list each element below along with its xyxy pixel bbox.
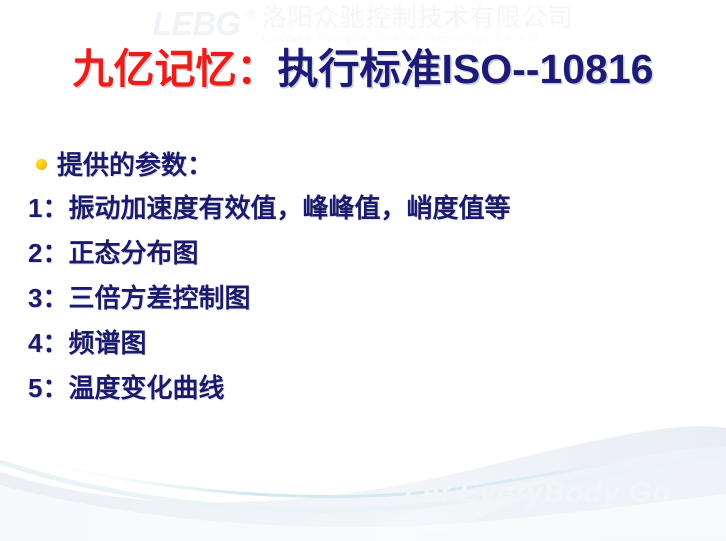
list-item-number: 2： <box>28 240 68 266</box>
parameters-list: 提供的参数： 1： 振动加速度有效值，峰峰值，峭度值等 2： 正态分布图 3： … <box>28 152 708 420</box>
list-heading-label: 提供的参数： <box>57 152 213 178</box>
list-item: 3： 三倍方差控制图 <box>28 285 708 311</box>
title-red-segment: 九亿记忆： <box>73 46 278 92</box>
list-item: 5： 温度变化曲线 <box>28 375 708 401</box>
list-item-number: 5： <box>28 375 68 401</box>
list-item-label: 振动加速度有效值，峰峰值，峭度值等 <box>68 195 510 221</box>
lebg-logo-text: LEBG <box>152 2 240 40</box>
bottom-tagline-watermark: Let EveryBody Go <box>404 477 671 510</box>
company-name-english: LuoYang ZhongChi Control Technology Co.,… <box>262 34 574 45</box>
slide-canvas: LEBG ® 洛阳众驰控制技术有限公司 LuoYang ZhongChi Con… <box>0 0 726 541</box>
list-item-number: 4： <box>28 330 68 356</box>
list-item: 1： 振动加速度有效值，峰峰值，峭度值等 <box>28 195 708 221</box>
slide-title: 九亿记忆：执行标准ISO--10816 <box>0 46 726 93</box>
list-item-number: 3： <box>28 285 68 311</box>
list-item: 2： 正态分布图 <box>28 240 708 266</box>
list-item-label: 温度变化曲线 <box>68 375 224 401</box>
registered-trademark-icon: ® <box>246 2 256 21</box>
list-item-number: 1： <box>28 195 68 221</box>
list-item-label: 频谱图 <box>68 330 146 356</box>
list-item-label: 正态分布图 <box>68 240 198 266</box>
gold-dot-bullet-icon <box>36 159 47 170</box>
list-item: 4： 频谱图 <box>28 330 708 356</box>
list-item-label: 三倍方差控制图 <box>68 285 250 311</box>
title-navy-segment: 执行标准ISO--10816 <box>278 46 654 92</box>
list-heading-row: 提供的参数： <box>28 152 708 178</box>
company-name-chinese: 洛阳众驰控制技术有限公司 <box>262 5 574 33</box>
